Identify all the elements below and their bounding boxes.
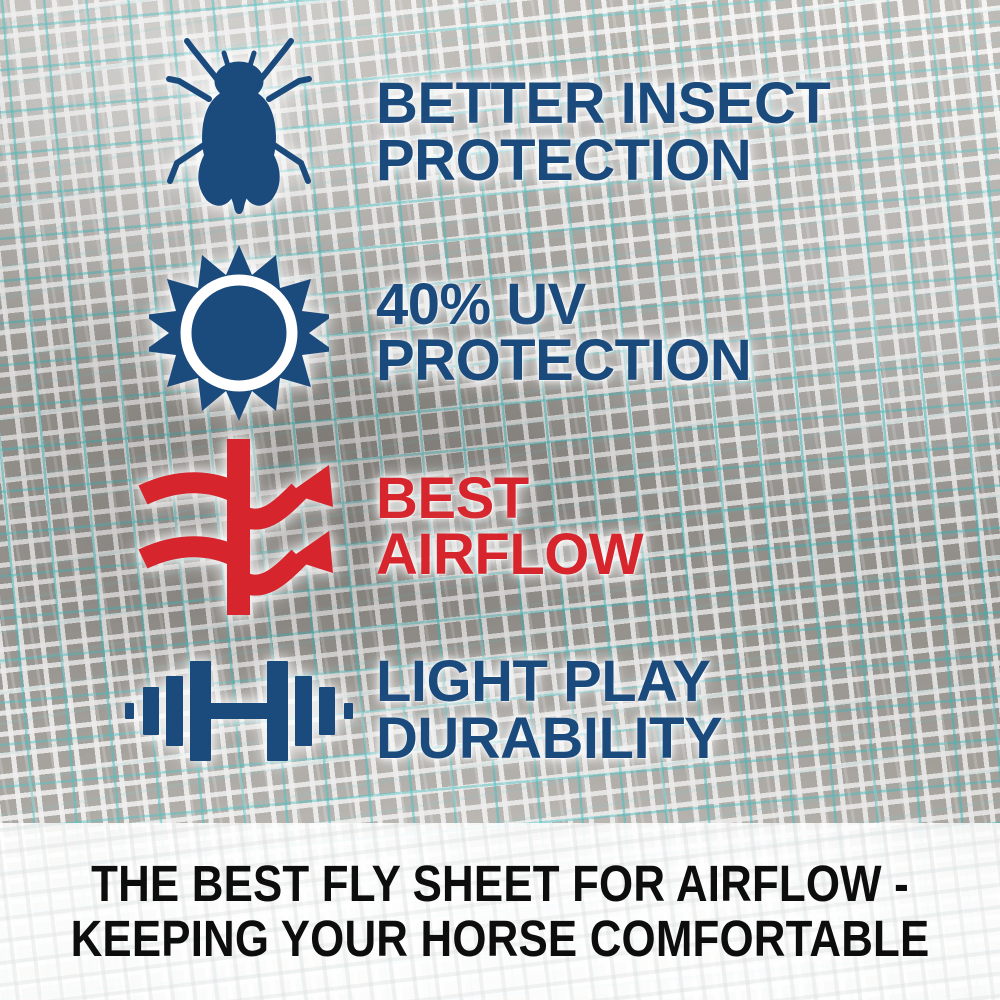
- feature-label-cell: BETTER INSECT PROTECTION: [370, 76, 928, 189]
- barbell-icon: [123, 651, 355, 771]
- caption-headline: THE BEST FLY SHEET FOR AIRFLOW - KEEPING…: [70, 857, 930, 965]
- feature-label-cell: BEST AIRFLOW: [370, 471, 928, 584]
- feature-label-cell: LIGHT PLAY DURABILITY: [370, 654, 928, 767]
- feature-row-uv-protection: 40% UV PROTECTION: [108, 238, 928, 428]
- feature-row-airflow: BEST AIRFLOW: [108, 432, 928, 622]
- product-feature-infographic: BETTER INSECT PROTECTION 40% UV PROTECTI…: [0, 0, 1000, 1000]
- feature-icon-cell: [108, 437, 370, 617]
- feature-list: BETTER INSECT PROTECTION 40% UV PROTECTI…: [0, 0, 1000, 823]
- fly-icon: [163, 35, 315, 231]
- feature-icon-cell: [108, 243, 370, 423]
- caption-panel: THE BEST FLY SHEET FOR AIRFLOW - KEEPING…: [0, 823, 1000, 1000]
- feature-icon-cell: [108, 35, 370, 231]
- feature-label-cell: 40% UV PROTECTION: [370, 277, 928, 390]
- feature-label-airflow: BEST AIRFLOW: [376, 471, 928, 584]
- feature-label-insect-protection: BETTER INSECT PROTECTION: [376, 76, 928, 189]
- feature-row-durability: LIGHT PLAY DURABILITY: [108, 628, 928, 793]
- feature-row-insect-protection: BETTER INSECT PROTECTION: [108, 30, 928, 235]
- airflow-arrows-icon: [133, 437, 345, 617]
- feature-icon-cell: [108, 651, 370, 771]
- feature-label-durability: LIGHT PLAY DURABILITY: [376, 654, 928, 767]
- sun-icon: [149, 243, 329, 423]
- feature-label-uv-protection: 40% UV PROTECTION: [376, 277, 928, 390]
